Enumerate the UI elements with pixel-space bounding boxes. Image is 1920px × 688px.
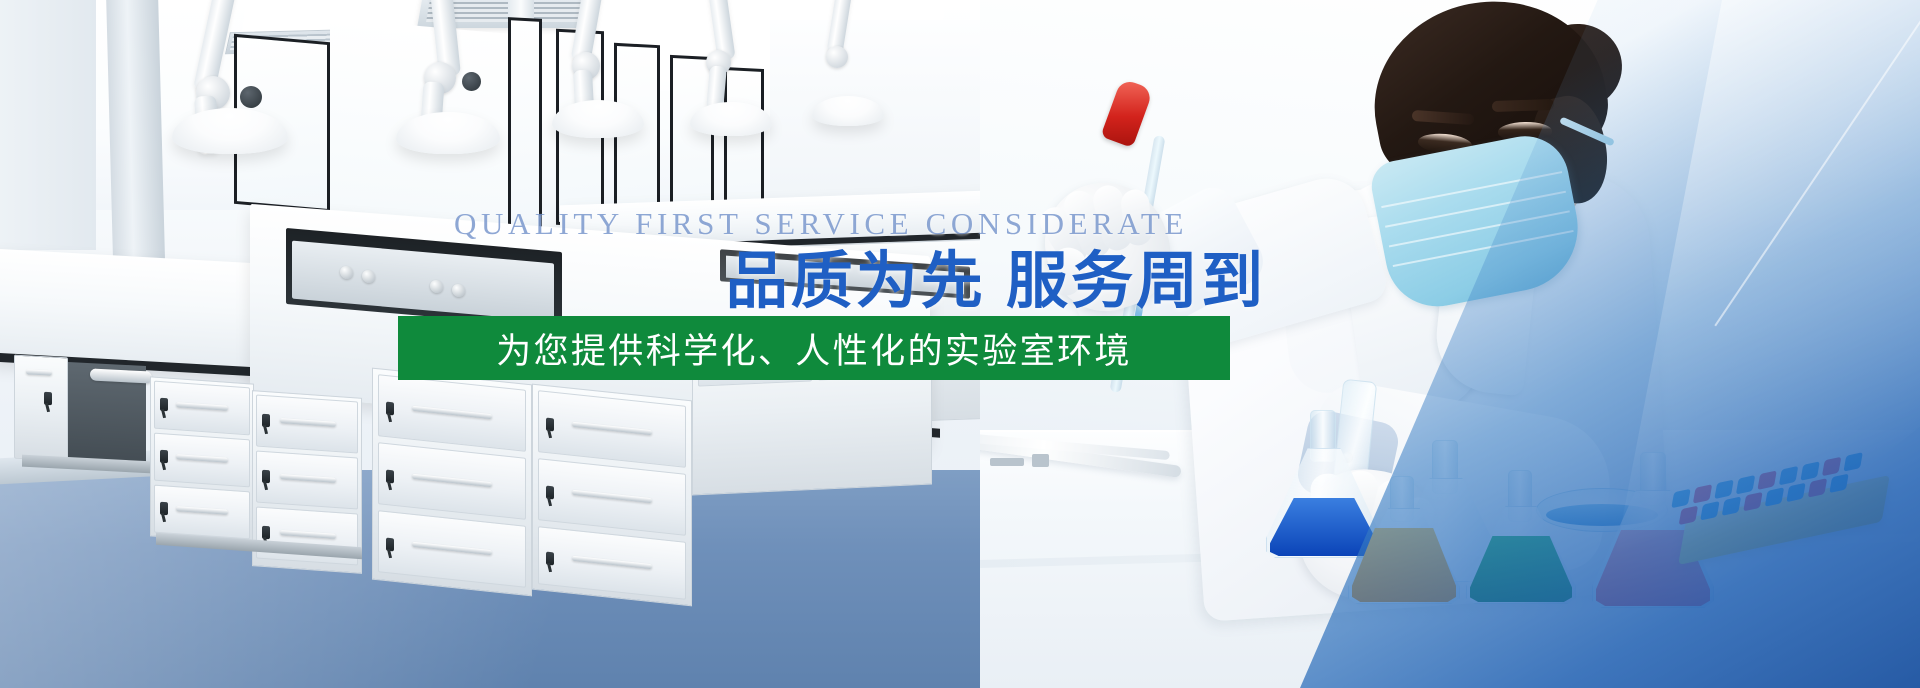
structural-column bbox=[106, 0, 166, 290]
drawer-lock-icon bbox=[386, 402, 394, 416]
subtitle-text: 为您提供科学化、人性化的实验室环境 bbox=[496, 323, 1132, 374]
drawer-lock-icon bbox=[386, 538, 394, 552]
drawer-lock-icon bbox=[160, 398, 168, 412]
eyebrow-right bbox=[1492, 99, 1554, 112]
small-sample-chip bbox=[990, 458, 1024, 466]
drawer-lock-icon bbox=[546, 552, 554, 566]
window bbox=[670, 55, 714, 219]
cabinet-lock-icon bbox=[44, 392, 52, 405]
window bbox=[724, 67, 764, 215]
ceiling-beam bbox=[0, 0, 96, 250]
fume-arm-knob bbox=[462, 72, 481, 91]
fume-arm-knob bbox=[240, 86, 262, 108]
drawer-lock-icon bbox=[546, 486, 554, 500]
drawer-lock-icon bbox=[262, 526, 270, 540]
small-sample-chip bbox=[1032, 454, 1049, 467]
drawer-lock-icon bbox=[160, 450, 168, 464]
lamp-hood bbox=[812, 96, 884, 126]
headline: 品质为先 服务周到 bbox=[366, 248, 1276, 316]
lab-hero-banner: LAB bbox=[0, 0, 1920, 688]
drawer-lock-icon bbox=[546, 418, 554, 432]
drawer-lock-icon bbox=[386, 470, 394, 484]
fume-arm-joint bbox=[826, 46, 848, 68]
subtitle-green-band: 为您提供科学化、人性化的实验室环境 bbox=[398, 316, 1230, 380]
english-tagline: QUALITY FIRST SERVICE CONSIDERATE bbox=[366, 206, 1276, 242]
drawer-lock-icon bbox=[160, 502, 168, 516]
window bbox=[508, 17, 542, 234]
drawer-lock-icon bbox=[262, 414, 270, 428]
bench-service-knob bbox=[340, 265, 353, 279]
drawer-lock-icon bbox=[262, 470, 270, 484]
